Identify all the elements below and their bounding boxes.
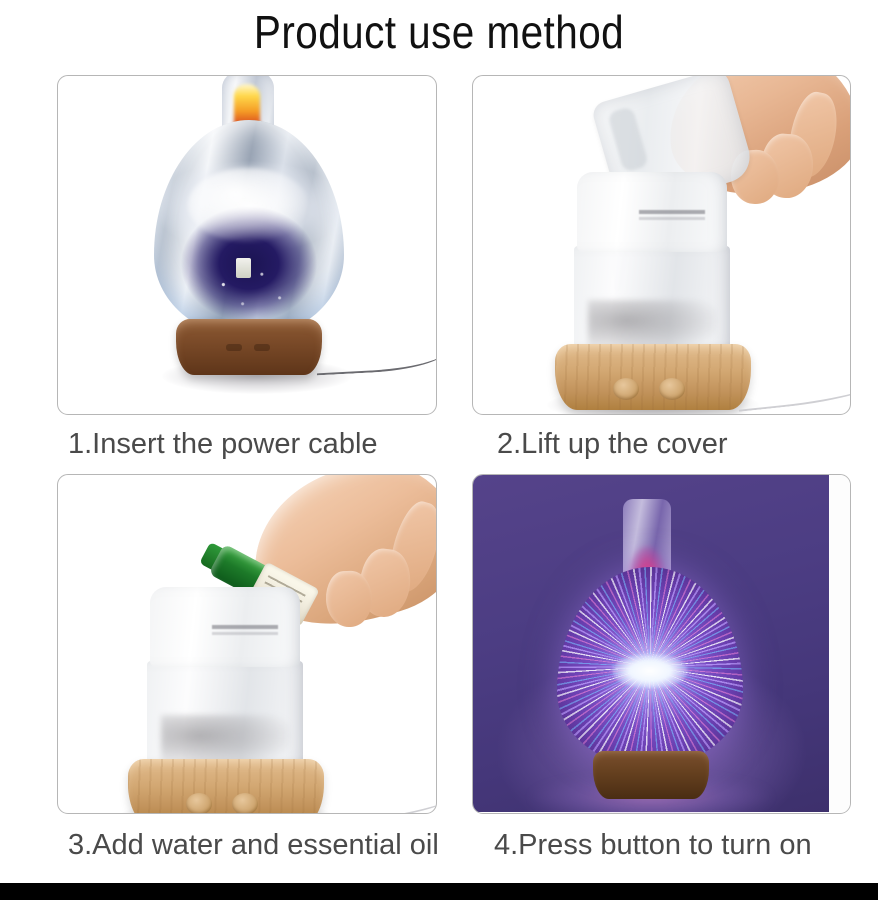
diffuser-tank-upper [577,172,727,252]
step-3-illustration [58,475,436,813]
step-2-caption: 2.Lift up the cover [497,427,728,461]
diffuser-tank-lower [574,246,730,356]
page-title: Product use method [53,2,826,62]
wood-base [128,759,324,814]
step-4-caption: 4.Press button to turn on [494,828,812,862]
wood-grain [555,344,751,410]
light-button [232,793,258,814]
wood-base [555,344,751,410]
power-cable [736,368,851,412]
step-1-image-panel [57,75,437,415]
power-cable [309,783,437,814]
diffuser-tank-lower [147,661,303,771]
diffuser-glass-body-lit [557,567,743,767]
step-2-illustration [473,76,850,414]
step-4-image-panel [472,474,851,814]
diffuser-unit-open [128,587,324,814]
step-2-image-panel [472,75,851,415]
diffuser-tank-upper [150,587,300,667]
power-button [186,793,212,814]
diffuser-unit-open [555,172,751,412]
step-1-illustration [58,76,436,414]
cup-highlight [607,106,649,173]
light-core [612,653,688,689]
power-button [226,344,242,351]
step-3-caption: 3.Add water and essential oil [68,828,439,862]
wood-base [176,319,322,375]
wood-grain [128,759,324,814]
power-cable [315,339,437,376]
wood-base [593,751,709,799]
panel-white-edge [829,475,850,812]
light-button [254,344,270,351]
step-4-illustration [473,475,850,813]
glass-highlight [188,168,308,242]
power-button [613,378,639,400]
max-water-line-label [212,625,278,638]
step-3-image-panel [57,474,437,814]
max-water-line-label [639,210,705,223]
inner-label [236,258,251,278]
step-1-caption: 1.Insert the power cable [68,427,378,461]
light-button [659,378,685,400]
bottom-black-bar [0,883,878,900]
product-instruction-image: Product use method 1.Insert the power ca… [0,0,878,900]
